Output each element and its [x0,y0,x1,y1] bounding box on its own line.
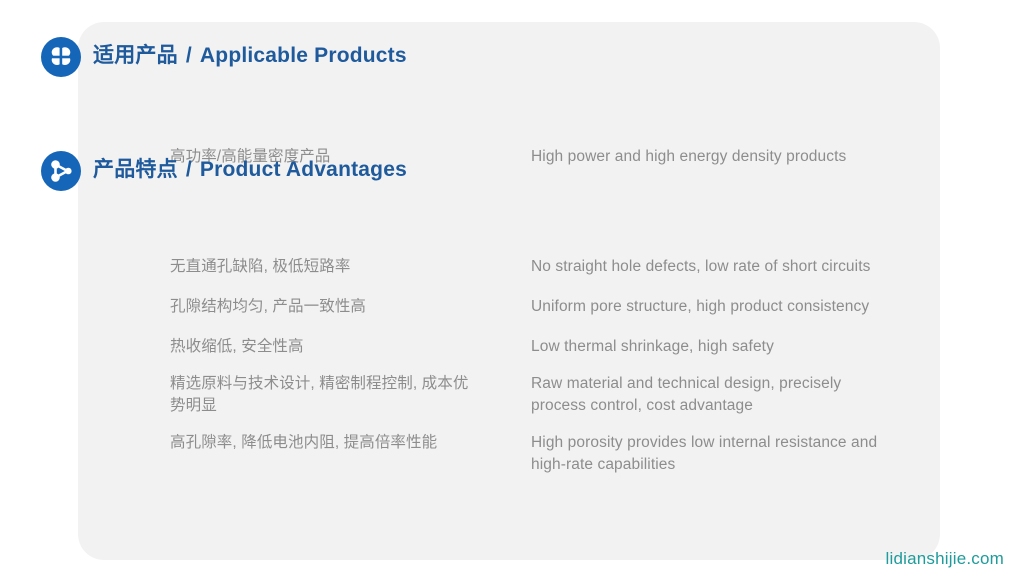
section-header: 产品特点 / Product Advantages [0,150,1016,196]
row-text-cn: 高孔隙率, 降低电池内阻, 提高倍率性能 [170,432,490,454]
row-text-en: Raw material and technical design, preci… [531,373,881,417]
row-text-en: High porosity provides low internal resi… [531,432,891,476]
row-text-en: Uniform pore structure, high product con… [531,296,921,318]
section-title-separator: / [178,44,200,67]
network-node-icon [40,150,82,192]
section-title-cn: 适用产品 [93,44,178,67]
section-rows: 高功率/高能量密度产品 High power and high energy d… [0,94,1016,134]
site-watermark: lidianshijie.com [886,549,1004,569]
section-title: 适用产品 / Applicable Products [93,39,407,73]
row-text-en: No straight hole defects, low rate of sh… [531,256,921,278]
row-text-cn: 精选原料与技术设计, 精密制程控制, 成本优势明显 [170,373,470,417]
section-product-advantages: 产品特点 / Product Advantages 无直通孔缺陷, 极低短路率 … [0,150,1016,208]
section-title-separator: / [178,158,200,181]
section-title-en: Applicable Products [200,44,407,67]
section-header: 适用产品 / Applicable Products [0,36,1016,82]
section-title-cn: 产品特点 [93,158,178,181]
section-title: 产品特点 / Product Advantages [93,153,407,187]
row-text-cn: 孔隙结构均匀, 产品一致性高 [170,296,510,318]
four-petal-flower-icon [40,36,82,78]
content-row: 高功率/高能量密度产品 High power and high energy d… [0,94,1016,134]
slide-root: 适用产品 / Applicable Products 高功率/高能量密度产品 H… [0,0,1016,583]
row-text-cn: 无直通孔缺陷, 极低短路率 [170,256,510,278]
section-applicable-products: 适用产品 / Applicable Products 高功率/高能量密度产品 H… [0,36,1016,134]
row-text-en: Low thermal shrinkage, high safety [531,336,921,358]
section-title-en: Product Advantages [200,158,407,181]
row-text-cn: 热收缩低, 安全性高 [170,336,510,358]
